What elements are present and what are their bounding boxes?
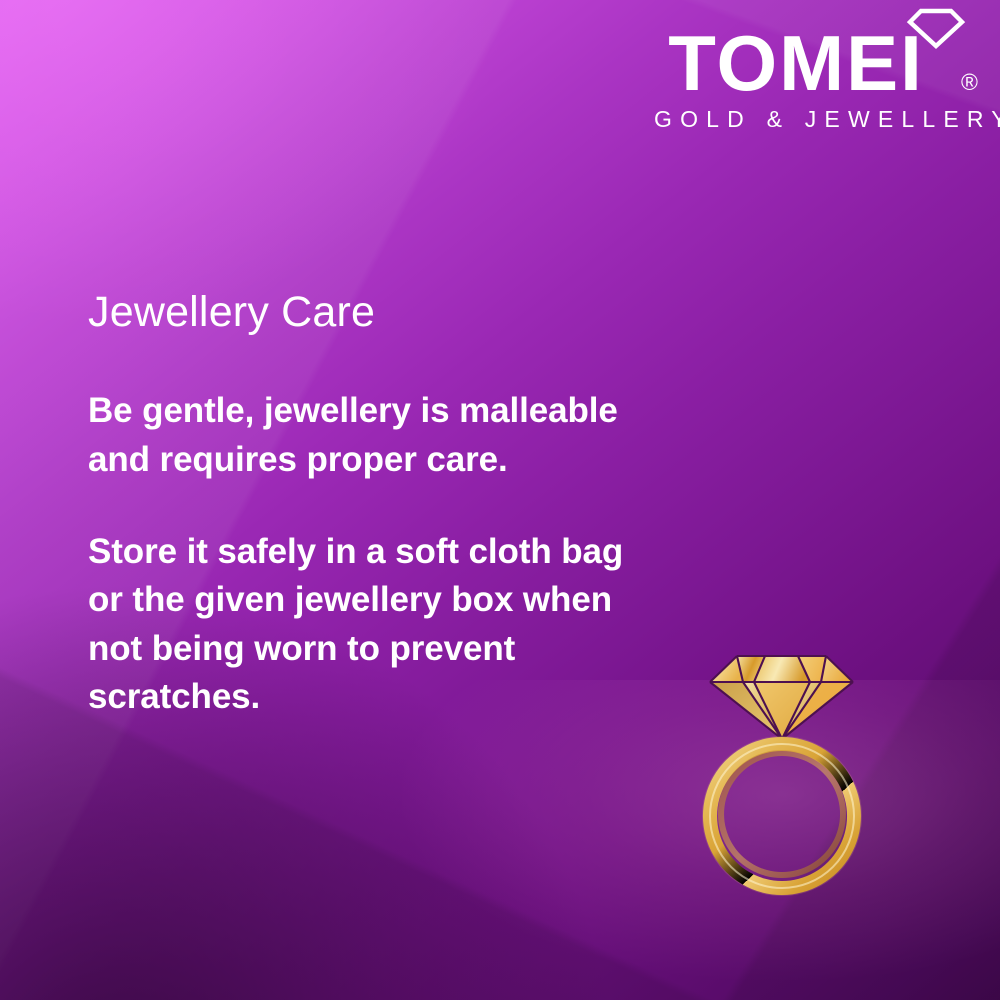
background-highlight-topleft xyxy=(0,0,500,320)
page-title: Jewellery Care xyxy=(88,288,648,337)
diamond-gem-icon xyxy=(710,656,853,739)
brand-wordmark: TOMEI® xyxy=(648,28,978,100)
care-paragraph-1: Be gentle, jewellery is malleable and re… xyxy=(88,387,648,484)
brand-tagline: GOLD & JEWELLERY xyxy=(648,106,978,133)
brand-logo: TOMEI® GOLD & JEWELLERY xyxy=(648,6,978,133)
diamond-ring-illustration xyxy=(697,638,867,900)
jewellery-care-poster: TOMEI® GOLD & JEWELLERY Jewellery Care B… xyxy=(0,0,1000,1000)
copy-block: Jewellery Care Be gentle, jewellery is m… xyxy=(88,288,648,721)
registered-trademark-icon: ® xyxy=(961,71,978,94)
care-paragraph-2: Store it safely in a soft cloth bag or t… xyxy=(88,528,648,721)
brand-wordmark-text: TOMEI xyxy=(668,19,924,107)
ring-band-icon xyxy=(702,736,862,896)
